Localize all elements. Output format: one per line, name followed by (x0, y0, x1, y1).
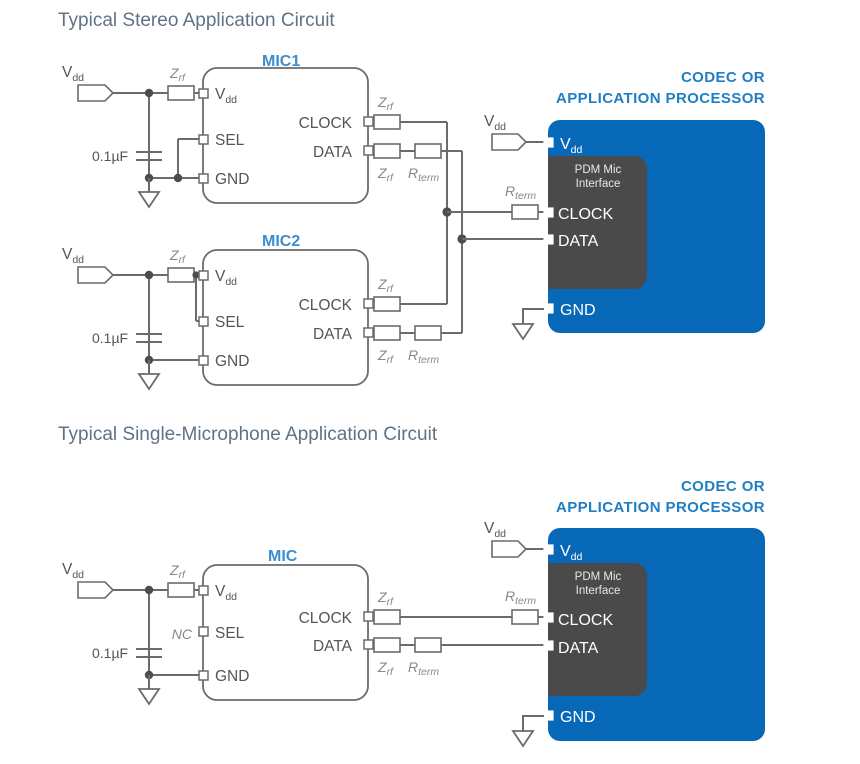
zrf-label-mic-vdd: Zrf (169, 562, 186, 581)
mic2-pin-label-sel: SEL (215, 314, 245, 331)
mic-pin-label-gnd: GND (215, 668, 249, 685)
resistor-zrf-mic-data (374, 638, 400, 652)
zrf-label-mic-clock: Zrf (377, 589, 394, 608)
mic1-pin-label-clock: CLOCK (299, 115, 353, 132)
codec-single-pin-clock (544, 613, 553, 622)
ground-symbol-codec-stereo (513, 324, 533, 339)
section-title-single: Typical Single-Microphone Application Ci… (58, 424, 438, 445)
ground-symbol-codec-single (513, 731, 533, 746)
mic-sel-nc-label: NC (172, 626, 193, 642)
codec-single-title-line1: CODEC OR (681, 478, 765, 495)
ground-symbol-mic2 (139, 374, 159, 389)
wire-codec-stereo-gnd (523, 309, 544, 324)
rterm-label-mic2-data: Rterm (408, 347, 439, 366)
codec-single-pdm-line1: PDM Mic (575, 571, 622, 583)
rterm-label-mic1-data: Rterm (408, 165, 439, 184)
mic-pin-label-data: DATA (313, 638, 353, 655)
rterm-label-mic-data: Rterm (408, 659, 439, 678)
codec-single-title-line2: APPLICATION PROCESSOR (556, 499, 765, 516)
codec-stereo-pin-data (544, 235, 553, 244)
codec-stereo-pin-vdd (544, 138, 553, 147)
rterm-label-codec-single-clock: Rterm (505, 588, 536, 607)
junction-dot-mic-vdd (145, 586, 153, 594)
mic2-label: MIC2 (262, 233, 300, 250)
zrf-label-mic2-clock: Zrf (377, 276, 394, 295)
mic2-pin-label-gnd: GND (215, 353, 249, 370)
mic-label: MIC (268, 548, 298, 565)
mic2-pin-clock (364, 299, 373, 308)
cap-value-mic: 0.1µF (92, 645, 128, 661)
mic1-pin-vdd (199, 89, 208, 98)
mic1-pin-clock (364, 117, 373, 126)
codec-stereo-pin-clock (544, 208, 553, 217)
mic-pin-label-clock: CLOCK (299, 610, 353, 627)
codec-stereo-title-line1: CODEC OR (681, 69, 765, 86)
codec-stereo-pin-gnd (544, 304, 553, 313)
codec-stereo-pdm-line2: Interface (576, 178, 621, 190)
mic2-pin-sel (199, 317, 208, 326)
junction-dot-mic1-vdd (145, 89, 153, 97)
vdd-supply-arrow-codec-stereo (492, 134, 526, 150)
codec-single-label-gnd: GND (560, 709, 596, 726)
codec-single-pin-vdd (544, 545, 553, 554)
mic2-pin-label-clock: CLOCK (299, 297, 353, 314)
junction-dot-mic1-sel-gnd (174, 174, 182, 182)
vdd-supply-arrow-mic2 (78, 267, 113, 283)
zrf-label-mic2-vdd: Zrf (169, 247, 186, 266)
vdd-supply-label-codec-single: Vdd (484, 520, 506, 540)
vdd-supply-arrow-mic (78, 582, 113, 598)
resistor-zrf-mic-clock (374, 610, 400, 624)
mic-pin-sel (199, 627, 208, 636)
mic1-pin-label-gnd: GND (215, 171, 249, 188)
zrf-label-mic-data: Zrf (377, 659, 394, 678)
codec-stereo-label-data: DATA (558, 233, 599, 250)
resistor-zrf-mic1-clock (374, 115, 400, 129)
codec-stereo-pdm-line1: PDM Mic (575, 164, 622, 176)
mic2-pin-gnd (199, 356, 208, 365)
mic1-pin-label-sel: SEL (215, 132, 245, 149)
mic1-pin-label-data: DATA (313, 144, 353, 161)
vdd-supply-label-mic2: Vdd (62, 246, 84, 266)
codec-single-pin-data (544, 641, 553, 650)
codec-single-pdm-line2: Interface (576, 585, 621, 597)
ground-symbol-mic (139, 689, 159, 704)
zrf-label-mic1-vdd: Zrf (169, 65, 186, 84)
codec-stereo-label-gnd: GND (560, 302, 596, 319)
resistor-rterm-mic-data (415, 638, 441, 652)
codec-single-label-data: DATA (558, 640, 599, 657)
vdd-supply-arrow-codec-single (492, 541, 526, 557)
zrf-label-mic1-data: Zrf (377, 165, 394, 184)
vdd-supply-label-mic1: Vdd (62, 64, 84, 84)
wire-codec-single-gnd (523, 716, 544, 731)
ground-symbol-mic1 (139, 192, 159, 207)
mic-pin-vdd (199, 586, 208, 595)
mic-pin-data (364, 640, 373, 649)
resistor-rterm-codec-clock (512, 205, 538, 219)
cap-value-mic1: 0.1µF (92, 148, 128, 164)
mic-pin-label-sel: SEL (215, 625, 245, 642)
vdd-supply-label-codec-stereo: Vdd (484, 113, 506, 133)
zrf-label-mic2-data: Zrf (377, 347, 394, 366)
resistor-zrf-mic2-data (374, 326, 400, 340)
codec-single-pin-gnd (544, 711, 553, 720)
resistor-rterm-codec-single-clock (512, 610, 538, 624)
codec-stereo-title-line2: APPLICATION PROCESSOR (556, 90, 765, 107)
vdd-supply-arrow-mic1 (78, 85, 113, 101)
mic1-pin-sel (199, 135, 208, 144)
resistor-zrf-mic2-vdd (168, 268, 194, 282)
mic2-pin-label-data: DATA (313, 326, 353, 343)
resistor-zrf-mic1-vdd (168, 86, 194, 100)
resistor-zrf-mic-vdd (168, 583, 194, 597)
mic-pin-gnd (199, 671, 208, 680)
codec-stereo-label-clock: CLOCK (558, 206, 613, 223)
resistor-zrf-mic2-clock (374, 297, 400, 311)
rterm-label-codec-clock: Rterm (505, 183, 536, 202)
cap-value-mic2: 0.1µF (92, 330, 128, 346)
mic2-pin-data (364, 328, 373, 337)
mic1-pin-gnd (199, 174, 208, 183)
resistor-zrf-mic1-data (374, 144, 400, 158)
resistor-rterm-mic2-data (415, 326, 441, 340)
vdd-supply-label-mic: Vdd (62, 561, 84, 581)
codec-single-label-clock: CLOCK (558, 612, 613, 629)
junction-dot-mic2-vdd (145, 271, 153, 279)
section-title-stereo: Typical Stereo Application Circuit (58, 10, 335, 31)
mic-pin-clock (364, 612, 373, 621)
zrf-label-mic1-clock: Zrf (377, 94, 394, 113)
resistor-rterm-mic1-data (415, 144, 441, 158)
diagram-page: Typical Stereo Application Circuit Typic… (0, 0, 860, 764)
mic2-pin-vdd (199, 271, 208, 280)
mic1-pin-data (364, 146, 373, 155)
